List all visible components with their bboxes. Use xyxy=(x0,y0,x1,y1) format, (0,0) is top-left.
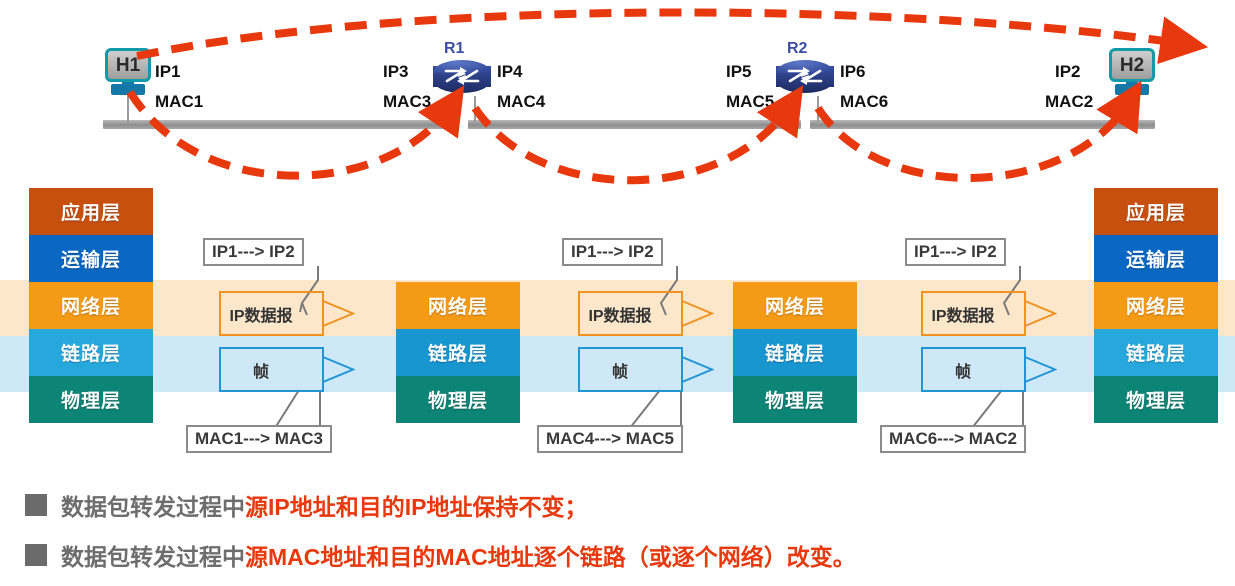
layer-transport: 运输层 xyxy=(1094,235,1218,282)
mac-callout-1: MAC1---> MAC3 xyxy=(186,425,332,453)
router-r2-name: R2 xyxy=(787,40,807,58)
frame-shape xyxy=(219,347,355,392)
ip-callout-1: IP1---> IP2 xyxy=(203,238,304,266)
r2-right-mac-label: MAC6 xyxy=(840,92,888,112)
ip-packet-label: IP数据报 xyxy=(588,302,651,326)
router-r1[interactable] xyxy=(433,60,491,94)
router-r2[interactable] xyxy=(776,60,834,94)
note-1-gray: 数据包转发过程中 xyxy=(61,494,245,520)
router-arrows-icon xyxy=(776,64,834,88)
mac-callout-3: MAC6---> MAC2 xyxy=(880,425,1026,453)
stack-h1: 应用层 运输层 网络层 链路层 物理层 xyxy=(29,188,153,423)
layer-physical: 物理层 xyxy=(733,376,857,423)
mac-callout-2: MAC4---> MAC5 xyxy=(537,425,683,453)
host-h2-label: H2 xyxy=(1120,56,1144,75)
router-r1-name: R1 xyxy=(444,40,464,58)
router-arrows-icon xyxy=(433,64,491,88)
drop-r1-left xyxy=(450,96,452,122)
layer-application: 应用层 xyxy=(1094,188,1218,235)
layer-link: 链路层 xyxy=(29,329,153,376)
network-bus-1 xyxy=(103,120,458,129)
layer-physical: 物理层 xyxy=(29,376,153,423)
network-bus-3 xyxy=(810,120,1155,129)
layer-network: 网络层 xyxy=(29,282,153,329)
layer-network: 网络层 xyxy=(733,282,857,329)
frame-label: 帧 xyxy=(612,358,628,382)
r1-left-ip-label: IP3 xyxy=(383,62,409,82)
h1-ip-label: IP1 xyxy=(155,62,181,82)
layer-network: 网络层 xyxy=(1094,282,1218,329)
stack-r2: 网络层 链路层 物理层 xyxy=(733,282,857,423)
frame-label: 帧 xyxy=(955,358,971,382)
note-1: 数据包转发过程中源IP地址和目的IP地址保持不变； xyxy=(25,488,587,522)
h2-ip-label: IP2 xyxy=(1055,62,1081,82)
layer-network: 网络层 xyxy=(396,282,520,329)
layer-link: 链路层 xyxy=(733,329,857,376)
layer-physical: 物理层 xyxy=(396,376,520,423)
host-h2-base xyxy=(1115,84,1149,95)
drop-h2 xyxy=(1131,92,1133,122)
bullet-square-icon xyxy=(25,494,47,516)
stack-r1: 网络层 链路层 物理层 xyxy=(396,282,520,423)
layer-link: 链路层 xyxy=(1094,329,1218,376)
r1-right-mac-label: MAC4 xyxy=(497,92,545,112)
ip-packet-box-2: IP数据报 xyxy=(578,291,688,336)
h2-mac-label: MAC2 xyxy=(1045,92,1093,112)
ip-packet-box-1: IP数据报 xyxy=(219,291,329,336)
ip-packet-box-3: IP数据报 xyxy=(921,291,1031,336)
r1-left-mac-label: MAC3 xyxy=(383,92,431,112)
frame-box-3: 帧 xyxy=(921,347,1031,392)
r2-left-ip-label: IP5 xyxy=(726,62,752,82)
stack-h2: 应用层 运输层 网络层 链路层 物理层 xyxy=(1094,188,1218,423)
frame-label: 帧 xyxy=(253,358,269,382)
r2-left-mac-label: MAC5 xyxy=(726,92,774,112)
host-h1[interactable]: H1 xyxy=(105,48,151,82)
ip-callout-2: IP1---> IP2 xyxy=(562,238,663,266)
drop-h1 xyxy=(127,92,129,122)
layer-application: 应用层 xyxy=(29,188,153,235)
note-2-red: 源MAC地址和目的MAC地址逐个链路（或逐个网络）改变。 xyxy=(245,544,856,570)
network-bus-2 xyxy=(468,120,801,129)
host-h1-base xyxy=(111,84,145,95)
layer-physical: 物理层 xyxy=(1094,376,1218,423)
host-h1-label: H1 xyxy=(116,56,140,75)
frame-box-1: 帧 xyxy=(219,347,329,392)
ip-callout-3: IP1---> IP2 xyxy=(905,238,1006,266)
ip-packet-label: IP数据报 xyxy=(229,302,292,326)
layer-transport: 运输层 xyxy=(29,235,153,282)
r1-right-ip-label: IP4 xyxy=(497,62,523,82)
drop-r2-left xyxy=(793,96,795,122)
layer-link: 链路层 xyxy=(396,329,520,376)
drop-r1-right xyxy=(474,96,476,122)
note-2-gray: 数据包转发过程中 xyxy=(61,544,245,570)
frame-shape xyxy=(578,347,714,392)
host-h2[interactable]: H2 xyxy=(1109,48,1155,82)
note-2-text: 数据包转发过程中源MAC地址和目的MAC地址逐个链路（或逐个网络）改变。 xyxy=(61,538,856,572)
r2-right-ip-label: IP6 xyxy=(840,62,866,82)
drop-r2-right xyxy=(817,96,819,122)
ip-packet-label: IP数据报 xyxy=(931,302,994,326)
frame-shape xyxy=(921,347,1057,392)
diagram-root: H1 IP1 MAC1 R1 IP3 MAC3 IP4 MAC4 R2 xyxy=(0,0,1235,586)
h1-mac-label: MAC1 xyxy=(155,92,203,112)
frame-box-2: 帧 xyxy=(578,347,688,392)
note-2: 数据包转发过程中源MAC地址和目的MAC地址逐个链路（或逐个网络）改变。 xyxy=(25,538,856,572)
note-1-text: 数据包转发过程中源IP地址和目的IP地址保持不变； xyxy=(61,488,587,522)
note-1-red: 源IP地址和目的IP地址保持不变； xyxy=(245,494,587,520)
bullet-square-icon xyxy=(25,544,47,566)
